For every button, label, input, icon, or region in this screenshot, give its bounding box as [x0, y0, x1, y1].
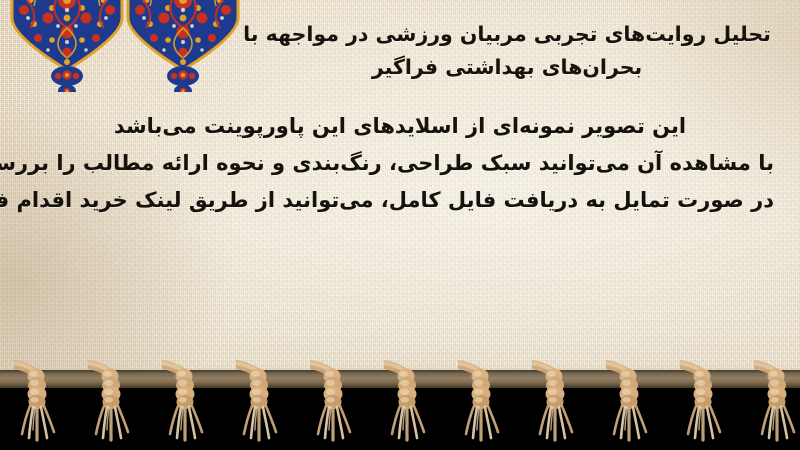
fringe-tassel — [310, 360, 358, 450]
fringe-tassel — [606, 360, 654, 450]
fringe-tassel — [754, 360, 800, 450]
slide-canvas: تحلیل روایت‌های تجربی مربیان ورزشی در مو… — [0, 0, 800, 450]
fringe-tassel — [458, 360, 506, 450]
fringe-tassel — [384, 360, 432, 450]
fringe-tassel — [14, 360, 62, 450]
body-line-1: این تصویر نمونه‌ای از اسلایدهای این پاور… — [26, 108, 774, 145]
slide-body-text: این تصویر نمونه‌ای از اسلایدهای این پاور… — [0, 108, 800, 219]
body-line-2: با مشاهده آن می‌توانید سبک طراحی، رنگ‌بن… — [26, 145, 774, 182]
fringe-tassel — [162, 360, 210, 450]
slide-title: تحلیل روایت‌های تجربی مربیان ورزشی در مو… — [0, 18, 800, 84]
fringe-tassel — [680, 360, 728, 450]
fringe-tassel — [236, 360, 284, 450]
fringe-tassel — [532, 360, 580, 450]
body-line-3: در صورت تمایل به دریافت فایل کامل، می‌تو… — [26, 182, 774, 219]
fringe-tassel — [88, 360, 136, 450]
